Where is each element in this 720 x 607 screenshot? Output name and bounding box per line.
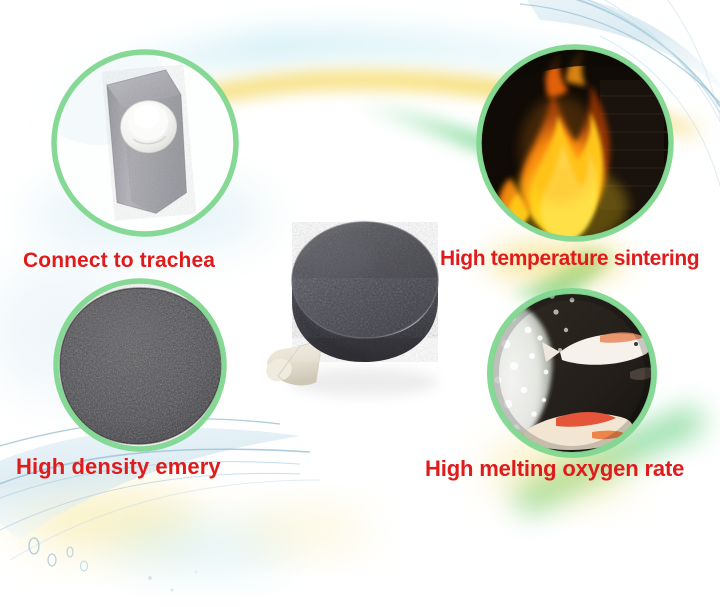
label-connect-to-trachea: Connect to trachea xyxy=(23,250,215,271)
hero-disc-air-stone xyxy=(263,222,438,396)
feature-circle-trachea xyxy=(30,35,236,234)
feature-circle-emery xyxy=(56,281,228,454)
feature-circle-sintering xyxy=(479,47,671,246)
feature-circle-oxygen xyxy=(486,291,656,456)
label-high-melting-oxygen-rate: High melting oxygen rate xyxy=(425,458,684,480)
product-illustrations xyxy=(0,0,720,607)
infographic-canvas: Connect to trachea High temperature sint… xyxy=(0,0,720,607)
label-high-temperature-sintering: High temperature sintering xyxy=(440,248,699,269)
label-high-density-emery: High density emery xyxy=(16,456,221,478)
